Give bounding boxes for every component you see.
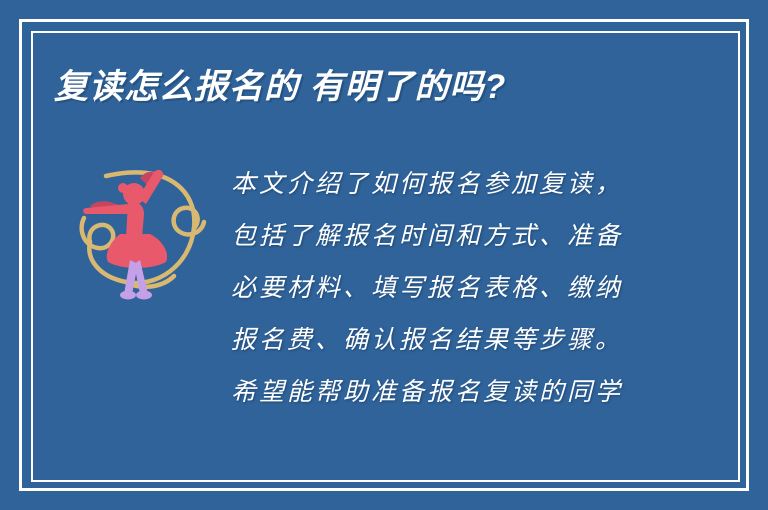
ballerina-ribbon-illustration bbox=[70, 142, 210, 302]
summary-line: 包括了解报名时间和方式、准备 bbox=[231, 210, 651, 262]
summary-line: 必要材料、填写报名表格、缴纳 bbox=[231, 262, 651, 314]
summary-text: 本文介绍了如何报名参加复读， 包括了解报名时间和方式、准备 必要材料、填写报名表… bbox=[231, 158, 651, 418]
summary-line: 报名费、确认报名结果等步骤。 bbox=[231, 314, 651, 366]
summary-line: 本文介绍了如何报名参加复读， bbox=[231, 158, 651, 210]
page-title: 复读怎么报名的 有明了的吗? bbox=[54, 66, 506, 108]
summary-line: 希望能帮助准备报名复读的同学 bbox=[231, 366, 651, 418]
article-cover-card: 复读怎么报名的 有明了的吗? bbox=[0, 0, 768, 510]
